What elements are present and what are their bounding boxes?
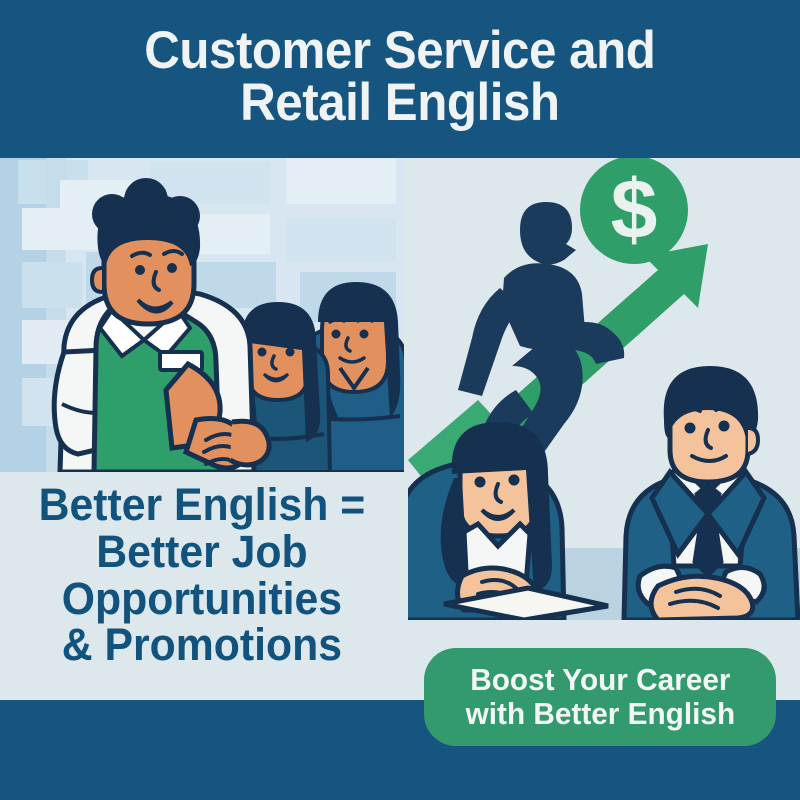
- header-banner: Customer Service and Retail English: [0, 0, 800, 158]
- page-title: Customer Service and Retail English: [144, 25, 655, 133]
- boost-career-cta-button[interactable]: Boost Your Career with Better English: [424, 648, 776, 746]
- dollar-coin-icon: $: [580, 156, 688, 264]
- cta-label: Boost Your Career with Better English: [465, 663, 735, 731]
- headline-text: Better English = Better Job Opportunitie…: [39, 480, 366, 669]
- poster-canvas: $: [0, 0, 800, 800]
- svg-text:$: $: [611, 162, 658, 256]
- illustration-left-panel: [0, 152, 404, 472]
- headline-block: Better English = Better Job Opportunitie…: [0, 480, 404, 695]
- retail-handshake-illustration: [0, 152, 404, 472]
- illustration-right-panel: $: [408, 152, 800, 620]
- career-growth-illustration: $: [408, 152, 800, 620]
